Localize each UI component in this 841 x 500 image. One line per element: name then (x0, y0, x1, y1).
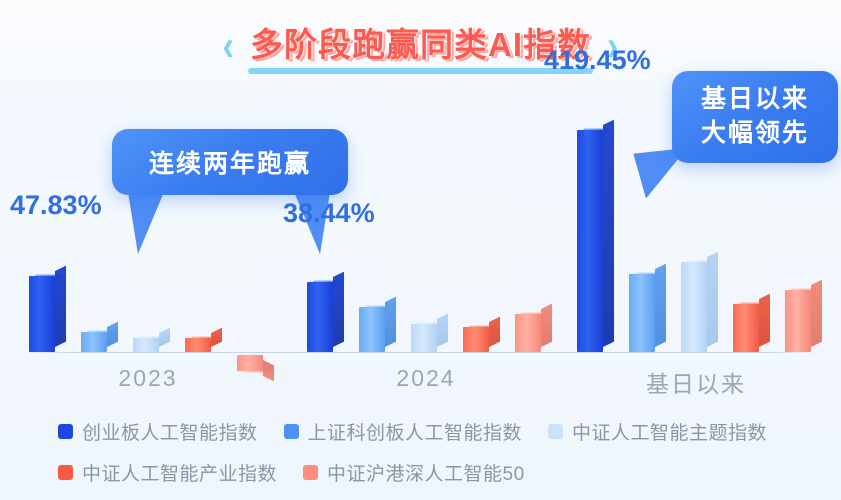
bar-slot[interactable] (230, 60, 270, 352)
bar-2024-chuangyeban[interactable] (307, 282, 333, 352)
bar-since-zhuti[interactable] (681, 262, 707, 352)
legend-swatch-icon (284, 424, 299, 439)
bar-group-since-inception: 基日以来 (562, 60, 830, 355)
bar-since-chanye[interactable] (733, 304, 759, 352)
bar-slot[interactable] (726, 60, 766, 352)
bar-2024-kechuangban[interactable] (359, 307, 385, 352)
bar-slot[interactable] (178, 60, 218, 352)
bar-slot[interactable] (674, 60, 714, 352)
legend-swatch-icon (58, 465, 73, 480)
group-label-2024: 2024 (292, 365, 560, 392)
bar-2023-chuangyeban[interactable] (29, 276, 55, 352)
value-label-2023: 47.83% (10, 190, 102, 221)
legend-item-hugangshen50[interactable]: 中证沪港深人工智能50 (303, 459, 525, 486)
bar-2024-chanye[interactable] (463, 327, 489, 352)
value-label-2024: 38.44% (283, 198, 375, 229)
title-text: 多阶段跑赢同类AI指数 (250, 26, 591, 63)
legend-item-chuangyeban[interactable]: 创业板人工智能指数 (58, 418, 258, 445)
legend-label: 中证人工智能主题指数 (572, 418, 767, 445)
legend-label: 上证科创板人工智能指数 (308, 418, 523, 445)
plot-area: 2023 2024 基日以来 (0, 60, 841, 355)
bar-2024-hugangshen50[interactable] (515, 314, 541, 352)
bar-slot[interactable] (456, 60, 496, 352)
bar-slot[interactable] (508, 60, 548, 352)
chart-canvas: ‹ 多阶段跑赢同类AI指数 › 连续两年跑赢 基日以来 大幅领先 (0, 0, 841, 500)
legend-label: 创业板人工智能指数 (82, 418, 258, 445)
group-label-since-inception: 基日以来 (562, 365, 830, 399)
legend-item-kechuangban[interactable]: 上证科创板人工智能指数 (284, 418, 523, 445)
legend-swatch-icon (548, 424, 563, 439)
bar-slot[interactable] (570, 60, 610, 352)
bar-2023-zhuti[interactable] (133, 338, 159, 352)
bar-since-kechuangban[interactable] (629, 274, 655, 352)
bar-row (570, 60, 822, 352)
bar-2023-kechuangban[interactable] (81, 332, 107, 352)
legend-swatch-icon (58, 424, 73, 439)
legend-label: 中证人工智能产业指数 (82, 459, 277, 486)
legend-item-chanye[interactable]: 中证人工智能产业指数 (58, 459, 277, 486)
bar-slot[interactable] (126, 60, 166, 352)
value-label-since-inception: 419.45% (544, 45, 651, 76)
bar-slot[interactable] (778, 60, 818, 352)
bar-2024-zhuti[interactable] (411, 324, 437, 352)
bar-since-chuangyeban[interactable] (577, 130, 603, 352)
legend-row-2: 中证人工智能产业指数 中证沪港深人工智能50 (58, 459, 818, 486)
legend-item-zhuti[interactable]: 中证人工智能主题指数 (548, 418, 767, 445)
bar-since-hugangshen50[interactable] (785, 290, 811, 352)
legend: 创业板人工智能指数 上证科创板人工智能指数 中证人工智能主题指数 中证人工智能产… (58, 418, 818, 500)
legend-swatch-icon (303, 465, 318, 480)
legend-label: 中证沪港深人工智能50 (327, 459, 525, 486)
group-label-2023: 2023 (14, 365, 282, 392)
bar-2023-chanye[interactable] (185, 338, 211, 352)
legend-row-1: 创业板人工智能指数 上证科创板人工智能指数 中证人工智能主题指数 (58, 418, 818, 445)
bar-slot[interactable] (622, 60, 662, 352)
bar-slot[interactable] (404, 60, 444, 352)
